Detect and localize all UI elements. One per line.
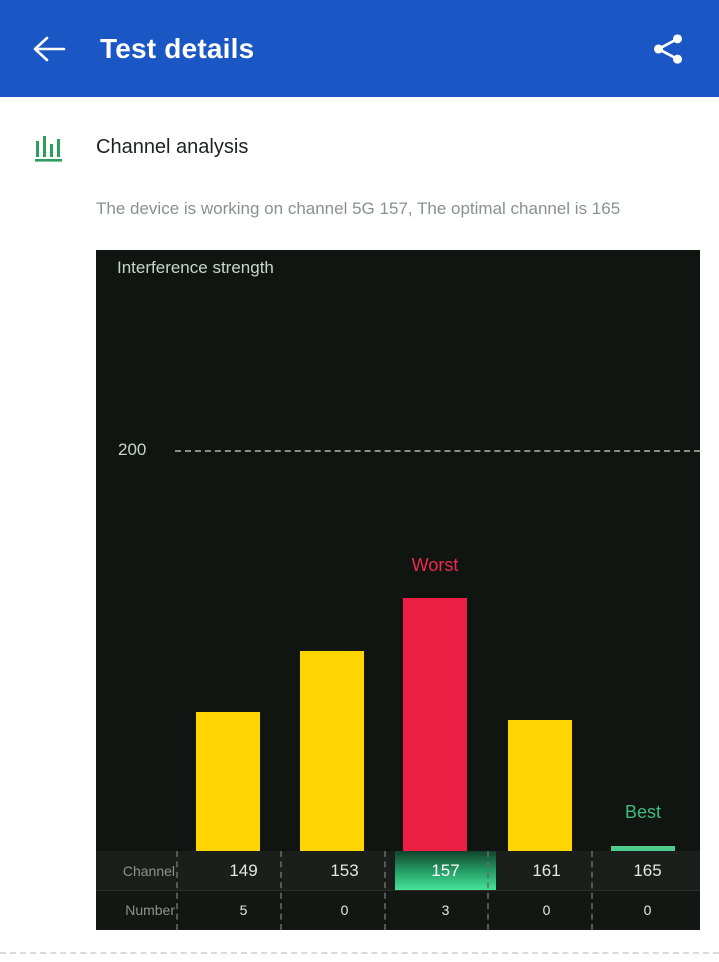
- back-button[interactable]: [22, 21, 78, 77]
- table-row-divider: [96, 890, 700, 891]
- cell-channel-165[interactable]: 165: [597, 861, 698, 881]
- worst-label: Worst: [390, 555, 480, 576]
- bottom-divider: [0, 952, 719, 954]
- bar-channel-161[interactable]: [508, 720, 572, 851]
- cell-number-157[interactable]: 3: [395, 902, 496, 918]
- arrow-left-icon: [33, 35, 67, 63]
- cell-number-149[interactable]: 5: [193, 902, 294, 918]
- share-button[interactable]: [641, 22, 695, 76]
- bar-channel-153[interactable]: [300, 651, 364, 851]
- column-separator-4: [487, 851, 489, 930]
- cell-channel-149[interactable]: 149: [193, 861, 294, 881]
- row-label-channel: Channel: [96, 863, 193, 879]
- bar-channel-149[interactable]: [196, 712, 260, 851]
- bar-chart-icon: [33, 133, 65, 165]
- column-separator-1: [176, 851, 178, 930]
- table-row-number: Number 5 0 3 0 0: [96, 890, 700, 930]
- cell-number-161[interactable]: 0: [496, 902, 597, 918]
- section-title: Channel analysis: [96, 136, 248, 159]
- column-separator-3: [384, 851, 386, 930]
- cell-number-165[interactable]: 0: [597, 902, 698, 918]
- share-icon: [649, 30, 687, 68]
- channel-table: Channel 149 153 157 161 165 Number 5 0 3…: [96, 851, 700, 930]
- plot-area: Worst Best: [96, 250, 700, 851]
- app-bar: Test details: [0, 0, 719, 97]
- bar-channel-157[interactable]: [403, 598, 467, 851]
- table-row-channel: Channel 149 153 157 161 165: [96, 851, 700, 890]
- cell-channel-153[interactable]: 153: [294, 861, 395, 881]
- column-separator-2: [280, 851, 282, 930]
- best-label: Best: [598, 802, 688, 823]
- cell-channel-161[interactable]: 161: [496, 861, 597, 881]
- channel-analysis-chart: Interference strength 200 Worst Best Cha…: [96, 250, 700, 930]
- row-label-number: Number: [96, 902, 193, 918]
- cell-number-153[interactable]: 0: [294, 902, 395, 918]
- section-description: The device is working on channel 5G 157,…: [96, 199, 620, 219]
- cell-channel-157-selected[interactable]: 157: [395, 851, 496, 890]
- page-title: Test details: [100, 33, 254, 65]
- column-separator-5: [591, 851, 593, 930]
